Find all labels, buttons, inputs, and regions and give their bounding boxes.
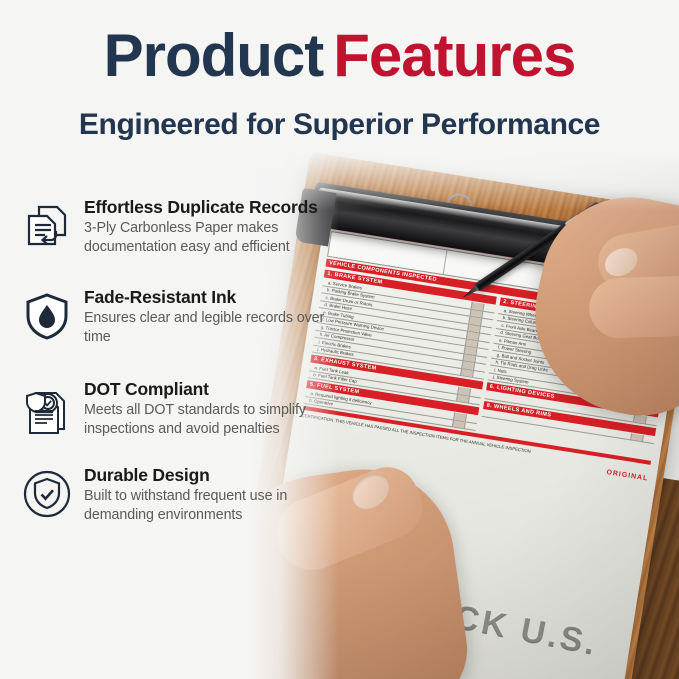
page-title: ProductFeatures (0, 26, 679, 86)
page-title-part2: Features (333, 22, 575, 89)
feature-item-dot-compliant: DOT Compliant Meets all DOT standards to… (18, 377, 348, 439)
feature-heading: Effortless Duplicate Records (84, 197, 348, 217)
feature-item-duplicate-records: Effortless Duplicate Records 3-Ply Carbo… (18, 195, 348, 257)
feature-list: Effortless Duplicate Records 3-Ply Carbo… (18, 195, 348, 550)
feature-item-durable-design: Durable Design Built to withstand freque… (18, 463, 348, 525)
thumbnail (346, 468, 396, 516)
form-check-cell[interactable] (642, 435, 655, 443)
feature-body: Built to withstand frequent use in deman… (84, 487, 348, 525)
feature-heading: Durable Design (84, 465, 348, 485)
feature-item-fade-resistant-ink: Fade-Resistant Ink Ensures clear and leg… (18, 285, 348, 347)
shield-check-circle-icon (18, 465, 76, 523)
feature-body: Meets all DOT standards to simplify insp… (84, 401, 348, 439)
feature-heading: Fade-Resistant Ink (84, 287, 348, 307)
certified-document-shield-icon (18, 379, 76, 437)
form-check-cell[interactable] (472, 370, 485, 378)
feature-heading: DOT Compliant (84, 379, 348, 399)
page-title-part1: Product (104, 22, 324, 89)
fingernail (600, 243, 642, 282)
page-subtitle: Engineered for Superior Performance (0, 108, 679, 142)
form-check-cell[interactable] (468, 396, 481, 404)
form-check-cell[interactable] (464, 422, 477, 430)
header: ProductFeatures Engineered for Superior … (0, 0, 679, 142)
finger (588, 275, 679, 340)
form-check-cell[interactable] (645, 417, 658, 425)
feature-body: Ensures clear and legible records over t… (84, 309, 348, 347)
shield-ink-drop-icon (18, 287, 76, 345)
feature-body: 3-Ply Carbonless Paper makes documentati… (84, 219, 348, 257)
duplicate-documents-icon (18, 197, 76, 255)
